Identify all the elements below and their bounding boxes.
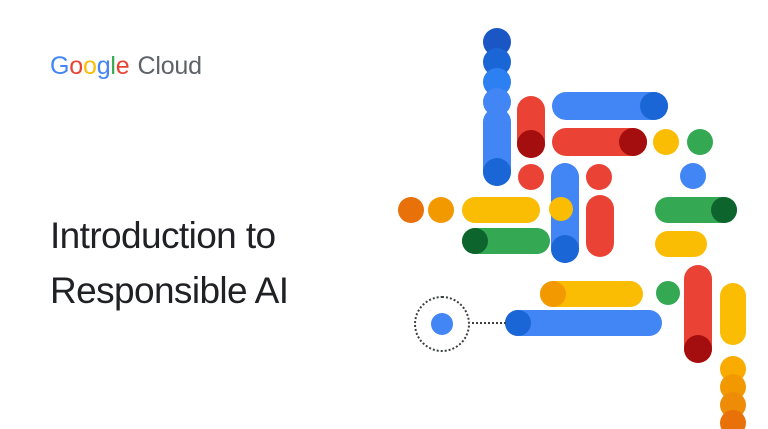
blue-bar-main-horizontal	[505, 310, 662, 336]
blue-bar-vertical-left-cap	[483, 158, 511, 186]
red-bar-vertical-right	[684, 265, 712, 363]
google-cloud-logo: G o o g l e Cloud	[50, 52, 202, 81]
red-dot-below-vertical	[518, 164, 544, 190]
logo-letter-o-yellow: o	[83, 52, 97, 81]
logo-cloud-text: Cloud	[137, 52, 201, 81]
green-bar-horizontal-left	[462, 228, 550, 254]
logo-letter-e-red: e	[116, 52, 130, 81]
orange-yellow-bar-cap	[540, 281, 566, 307]
green-bar-horizontal-right	[655, 197, 737, 223]
blue-dot-stack-3	[483, 68, 511, 96]
red-bar-horizontal-cap	[619, 128, 647, 156]
google-wordmark: G o o g l e	[50, 52, 129, 81]
green-bar-horizontal-left-cap	[462, 228, 488, 254]
red-bar-vertical-upper	[517, 96, 545, 158]
blue-dot-stack-2	[483, 48, 511, 76]
page-title-line-2: Responsible AI	[50, 263, 380, 319]
blue-bar-horizontal-top-cap	[640, 92, 668, 120]
blue-bar-vertical-left	[483, 108, 511, 186]
blue-dot-right-mid	[680, 163, 706, 189]
slide-canvas: G o o g l e Cloud Introduction to Respon…	[0, 0, 768, 429]
orange-dot-far-left-2	[428, 197, 454, 223]
page-title-line-1: Introduction to	[50, 208, 380, 264]
orange-dot-stack-4	[720, 410, 746, 429]
blue-bar-vertical-center-cap	[551, 235, 579, 263]
orange-dot-far-left-1	[398, 197, 424, 223]
red-bar-vertical-right-cap	[684, 335, 712, 363]
yellow-bar-horizontal-left	[462, 197, 540, 223]
yellow-bar-vertical-right	[720, 283, 746, 345]
red-bar-vertical-upper-cap	[517, 130, 545, 158]
logo-letter-o-red: o	[69, 52, 83, 81]
focus-ring-inner-dot	[431, 313, 453, 335]
orange-dot-stack-1	[720, 356, 746, 382]
blue-bar-horizontal-top	[552, 92, 668, 120]
orange-yellow-bar	[540, 281, 643, 307]
orange-dot-stack-2	[720, 374, 746, 400]
red-bar-vertical-center	[586, 195, 614, 257]
page-title: Introduction to Responsible AI	[50, 208, 380, 319]
blue-dot-stack-4	[483, 88, 511, 116]
green-dot-mid-right	[656, 281, 680, 305]
yellow-dot-after-bar	[549, 197, 573, 221]
focus-ring-icon	[414, 296, 470, 352]
yellow-bar-horizontal-right	[655, 231, 707, 257]
logo-letter-g-blue: G	[50, 52, 69, 81]
orange-dot-stack-3	[720, 392, 746, 418]
red-bar-horizontal	[552, 128, 647, 156]
yellow-dot-top-right	[653, 129, 679, 155]
blue-bar-main-horizontal-cap	[505, 310, 531, 336]
red-dot-mid	[586, 164, 612, 190]
focus-connector-line	[472, 322, 506, 324]
logo-letter-g-blue2: g	[97, 52, 111, 81]
green-bar-horizontal-right-cap	[711, 197, 737, 223]
blue-dot-stack-1	[483, 28, 511, 56]
blue-bar-vertical-center	[551, 163, 579, 263]
green-dot-top-right	[687, 129, 713, 155]
